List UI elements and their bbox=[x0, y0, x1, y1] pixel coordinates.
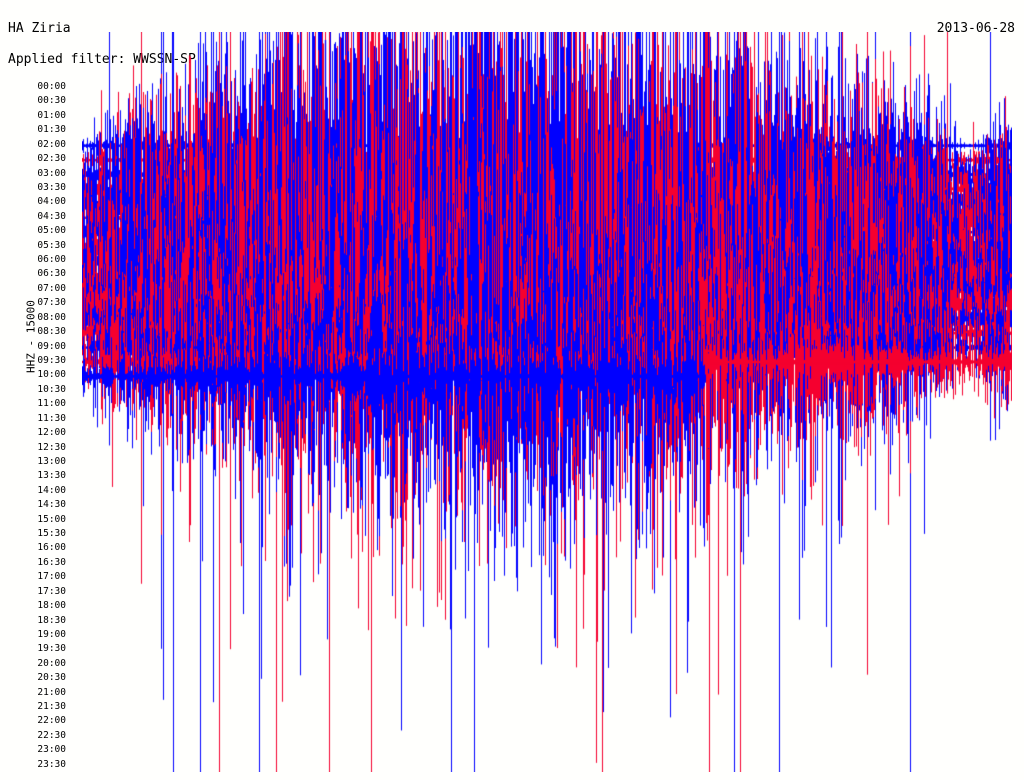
time-label: 20:30 bbox=[37, 673, 66, 682]
time-label: 07:30 bbox=[37, 298, 66, 307]
time-label: 06:00 bbox=[37, 255, 66, 264]
time-label: 18:00 bbox=[37, 601, 66, 610]
time-label: 19:00 bbox=[37, 630, 66, 639]
time-label: 12:30 bbox=[37, 443, 66, 452]
time-axis-labels: 00:0000:3001:0001:3002:0002:3003:0003:30… bbox=[0, 82, 66, 774]
time-label: 18:30 bbox=[37, 616, 66, 625]
time-label: 09:30 bbox=[37, 356, 66, 365]
time-label: 17:30 bbox=[37, 587, 66, 596]
time-label: 09:00 bbox=[37, 342, 66, 351]
time-label: 15:30 bbox=[37, 529, 66, 538]
time-label: 15:00 bbox=[37, 515, 66, 524]
time-label: 14:30 bbox=[37, 500, 66, 509]
time-label: 22:00 bbox=[37, 716, 66, 725]
time-label: 02:30 bbox=[37, 154, 66, 163]
helicorder-page: HA Ziria 2013-06-28 Applied filter: WWSS… bbox=[0, 0, 1024, 780]
time-label: 12:00 bbox=[37, 428, 66, 437]
time-label: 03:00 bbox=[37, 169, 66, 178]
time-label: 04:30 bbox=[37, 212, 66, 221]
time-label: 21:00 bbox=[37, 688, 66, 697]
time-label: 05:30 bbox=[37, 241, 66, 250]
time-label: 02:00 bbox=[37, 140, 66, 149]
time-label: 21:30 bbox=[37, 702, 66, 711]
time-label: 20:00 bbox=[37, 659, 66, 668]
time-label: 04:00 bbox=[37, 197, 66, 206]
time-label: 06:30 bbox=[37, 269, 66, 278]
time-label: 07:00 bbox=[37, 284, 66, 293]
time-label: 17:00 bbox=[37, 572, 66, 581]
time-label: 10:00 bbox=[37, 370, 66, 379]
time-label: 14:00 bbox=[37, 486, 66, 495]
time-label: 19:30 bbox=[37, 644, 66, 653]
time-label: 11:00 bbox=[37, 399, 66, 408]
time-label: 23:00 bbox=[37, 745, 66, 754]
time-label: 22:30 bbox=[37, 731, 66, 740]
time-label: 08:30 bbox=[37, 327, 66, 336]
time-label: 10:30 bbox=[37, 385, 66, 394]
time-label: 16:30 bbox=[37, 558, 66, 567]
time-label: 01:00 bbox=[37, 111, 66, 120]
time-label: 03:30 bbox=[37, 183, 66, 192]
time-label: 11:30 bbox=[37, 414, 66, 423]
seismogram-trace-canvas bbox=[82, 32, 1012, 772]
time-label: 16:00 bbox=[37, 543, 66, 552]
station-name: HA Ziria bbox=[8, 21, 71, 36]
time-label: 13:30 bbox=[37, 471, 66, 480]
seismogram-plot bbox=[82, 32, 1012, 772]
time-label: 08:00 bbox=[37, 313, 66, 322]
time-label: 01:30 bbox=[37, 125, 66, 134]
time-label: 00:30 bbox=[37, 96, 66, 105]
time-label: 23:30 bbox=[37, 760, 66, 769]
time-label: 05:00 bbox=[37, 226, 66, 235]
time-label: 13:00 bbox=[37, 457, 66, 466]
time-label: 00:00 bbox=[37, 82, 66, 91]
